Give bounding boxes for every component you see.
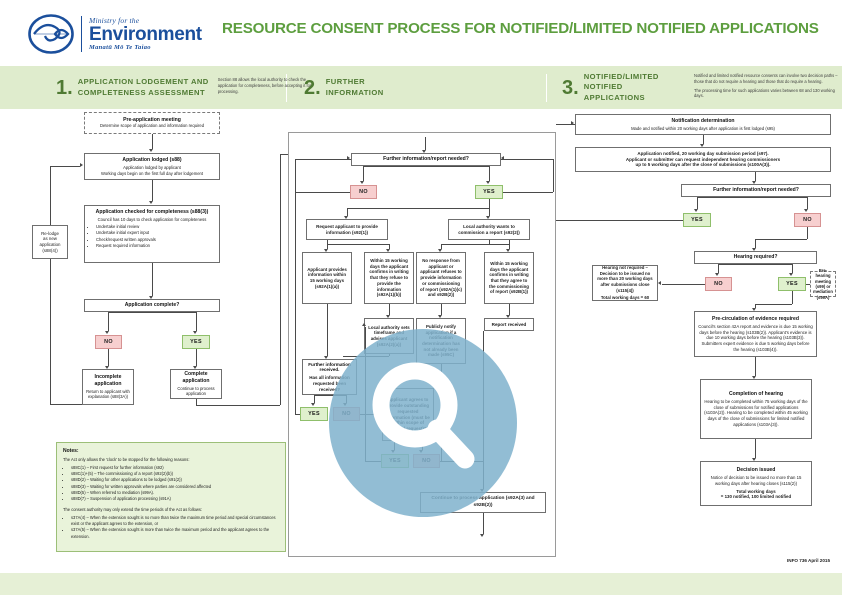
conn-hearing-no bbox=[718, 264, 719, 273]
decision-no-col1: NO bbox=[95, 335, 122, 349]
conn-d3-d4 bbox=[441, 244, 509, 245]
box-completion-of-hearing: Completion of hearing Hearing to be comp… bbox=[700, 379, 812, 439]
conn-d1-d2 bbox=[327, 244, 389, 245]
conn-d4 bbox=[509, 240, 510, 249]
logo-line-2: Environment bbox=[89, 25, 202, 44]
conn-relodge-up bbox=[50, 166, 51, 225]
notes-heading: Notes: bbox=[63, 448, 279, 454]
conn-fir-yes-left bbox=[295, 414, 300, 415]
box-relodge: Re-lodge as new application (s88(4)) bbox=[32, 225, 68, 259]
conn-fir-yes bbox=[314, 395, 315, 403]
arrow-left-fi bbox=[501, 156, 504, 160]
arrow-right-relodge bbox=[80, 163, 83, 167]
conn-q-no bbox=[108, 312, 109, 331]
box-precirculation-evidence: Pre-circulation of evidence required Cou… bbox=[694, 311, 817, 357]
conn-continue-out bbox=[483, 513, 484, 534]
conn-notif-notified bbox=[703, 135, 704, 144]
conn-into-sec2 bbox=[280, 154, 288, 155]
conn-yes-down-col2 bbox=[489, 199, 490, 208]
decision-no-agrees: NO bbox=[413, 454, 440, 468]
conn-fi-branch bbox=[363, 166, 489, 167]
box-application-notified: Application notified, 20 working day sub… bbox=[575, 147, 831, 172]
arrow-agrees-yes bbox=[391, 450, 395, 453]
box-fi-needed-col3: Further information/report needed? bbox=[681, 184, 831, 197]
decision-no-fir: NO bbox=[333, 407, 360, 421]
arrow-down-no bbox=[105, 331, 109, 334]
arrow-fi3-yes bbox=[694, 209, 698, 212]
arrow-hearing-no bbox=[715, 273, 719, 276]
flowchart-canvas: Pre-application meeting Determine scope … bbox=[0, 107, 842, 572]
box-completeness-check: Application checked for completeness (s8… bbox=[84, 205, 220, 263]
notes-intro: The Act only allows the 'clock' to be st… bbox=[63, 457, 279, 463]
conn-fi3-no bbox=[807, 197, 808, 209]
decision-yes-col2: YES bbox=[475, 185, 503, 199]
conn-lodged-complete bbox=[152, 180, 153, 201]
conn-precirc-completion bbox=[755, 357, 756, 376]
box-notification-determination: Notification determination Made and noti… bbox=[575, 114, 831, 135]
section-1-note: Section 88 allows the local authority to… bbox=[218, 77, 313, 98]
conn-notified-fi bbox=[755, 172, 756, 181]
box-commission-report: Local authority wants to commission a re… bbox=[448, 219, 530, 240]
conn-no3-down bbox=[807, 227, 808, 239]
box-la-sets-timeframe: Local authority sets timeframe and advis… bbox=[364, 318, 414, 354]
box-applicant-provides-info: Applicant provides information within 15… bbox=[302, 252, 352, 304]
arrow-right-notification bbox=[571, 121, 574, 125]
section-3-label: NOTIFIED/LIMITED NOTIFIED APPLICATIONS bbox=[584, 72, 685, 103]
conn-commission-down bbox=[489, 240, 490, 244]
conn-completion-decision bbox=[755, 439, 756, 458]
conn-complete-right bbox=[196, 405, 280, 406]
arrow-left-no-hearing bbox=[658, 281, 661, 285]
conn-continue-vert bbox=[483, 331, 484, 489]
conn-no-hearing-left bbox=[662, 284, 705, 285]
mfe-koru-logo-icon bbox=[28, 14, 74, 54]
box-fi-needed-col2: Further information/report needed? bbox=[351, 153, 501, 166]
decision-yes-fir: YES bbox=[300, 407, 328, 421]
section-1-number: 1. bbox=[56, 78, 73, 98]
decision-no-col2: NO bbox=[350, 185, 377, 199]
arrow-down-fi-no bbox=[360, 181, 364, 184]
section-2-header: 2. FURTHER INFORMATION bbox=[304, 66, 384, 109]
logo-line-1: Ministry for the bbox=[89, 17, 202, 25]
box-continue-to-process: Continue to process application (s92A(3)… bbox=[420, 492, 546, 513]
conn-no-left bbox=[295, 192, 350, 193]
conn-fi-no bbox=[363, 166, 364, 181]
conn-check-q bbox=[152, 263, 153, 296]
conn-fi-yes bbox=[489, 166, 490, 181]
notes-intro-2: The consent authority may only extend th… bbox=[63, 507, 279, 513]
decision-no-col3: NO bbox=[794, 213, 821, 227]
box-no-response: No response from applicant or applicant … bbox=[416, 252, 466, 304]
arrow-hearing-yes bbox=[789, 273, 793, 276]
arrow-fir-yes bbox=[311, 403, 315, 406]
conn-fi3-yes bbox=[697, 197, 698, 209]
box-within15-refuse: Within 15 working days the applicant con… bbox=[364, 252, 414, 304]
arrow-down-2 bbox=[149, 201, 153, 204]
section-3-header: 3. NOTIFIED/LIMITED NOTIFIED APPLICATION… bbox=[562, 66, 842, 109]
conn-sec2-no-out bbox=[503, 192, 553, 193]
section-1-label: APPLICATION LODGEMENT AND COMPLETENESS A… bbox=[78, 77, 209, 98]
conn-fir-branch bbox=[314, 395, 346, 396]
conn-yes-split bbox=[347, 208, 489, 209]
section-3-note: Notified and limited notified resource c… bbox=[694, 73, 842, 103]
decision-no-hearing: NO bbox=[705, 277, 732, 291]
box-application-lodged: Application lodged (s88) Application lod… bbox=[84, 153, 220, 180]
conn-d3-next bbox=[441, 304, 442, 315]
conn-col3-yes-left bbox=[556, 220, 683, 221]
band-divider-2 bbox=[546, 74, 547, 102]
box-hearing-required-q: Hearing required? bbox=[694, 251, 817, 264]
section-3-number: 3. bbox=[562, 78, 579, 98]
decision-yes-hearing: YES bbox=[778, 277, 806, 291]
box-applicant-agrees: Applicant agrees to provide outstanding … bbox=[382, 388, 434, 441]
box-prehearing-meeting: Pre-hearing meeting (s99) or mediation (… bbox=[810, 271, 836, 297]
notes-list-2: s37A(4) – When the extension sought is n… bbox=[63, 515, 279, 540]
decision-yes-col3: YES bbox=[683, 213, 711, 227]
conn-complete-up bbox=[280, 154, 281, 405]
conn-sec2-no-up bbox=[553, 159, 554, 192]
box-complete-application: Complete application Continue to process… bbox=[170, 369, 222, 399]
conn-fir-no bbox=[346, 395, 347, 403]
arrow-down-fi-yes bbox=[486, 181, 490, 184]
page-header: Ministry for the Environment Manatū Mō T… bbox=[0, 0, 842, 62]
arrow-fi3-no bbox=[804, 209, 808, 212]
conn-d2-next bbox=[389, 304, 390, 315]
page-title: RESOURCE CONSENT PROCESS FOR NOTIFIED/LI… bbox=[222, 21, 832, 38]
conn-yes-down bbox=[196, 349, 197, 366]
box-hearing-not-required: Hearing not required – Decision to be is… bbox=[592, 265, 658, 301]
ministry-logo: Ministry for the Environment Manatū Mō T… bbox=[28, 14, 202, 54]
conn-agrees-no-right bbox=[440, 461, 483, 462]
completeness-bullets: Undertake initial review Undertake initi… bbox=[89, 224, 215, 250]
arrow-right-fi bbox=[347, 156, 350, 160]
section-band: 1. APPLICATION LODGEMENT AND COMPLETENES… bbox=[0, 64, 842, 109]
conn-relodge-down bbox=[50, 259, 51, 404]
bottom-green-band bbox=[0, 573, 842, 595]
section-2-label: FURTHER INFORMATION bbox=[326, 77, 384, 98]
box-report-received: Report received bbox=[484, 318, 534, 331]
arrow-down-1 bbox=[149, 149, 153, 152]
section-2-number: 2. bbox=[304, 78, 321, 98]
conn-precirc-h bbox=[755, 304, 792, 305]
notes-list-1: s88C(1) – First request for further info… bbox=[63, 465, 279, 503]
conn-to-request bbox=[347, 208, 348, 216]
box-within15-agree: Within 15 working days the applicant con… bbox=[484, 252, 534, 304]
arrow-right-agrees bbox=[378, 411, 381, 415]
conn-no3-v bbox=[755, 239, 756, 248]
conn-q-branch bbox=[108, 312, 197, 313]
section-1-header: 1. APPLICATION LODGEMENT AND COMPLETENES… bbox=[56, 66, 313, 109]
conn-d1-fir bbox=[327, 304, 328, 356]
box-pre-application-meeting: Pre-application meeting Determine scope … bbox=[84, 112, 220, 134]
conn-right-into-fi bbox=[501, 159, 553, 160]
conn-lat-fir bbox=[389, 354, 390, 356]
conn-notify-down bbox=[441, 364, 442, 461]
conn-preapp-lodged bbox=[152, 134, 153, 149]
conn-fir-yes-up bbox=[295, 159, 296, 414]
conn-agrees-branch bbox=[394, 441, 422, 442]
conn-agrees-yes bbox=[394, 441, 395, 450]
conn-d4-next bbox=[509, 304, 510, 315]
arrow-agrees-no bbox=[419, 450, 423, 453]
box-request-applicant-info: Request applicant to provide information… bbox=[306, 219, 388, 240]
conn-no-down bbox=[108, 349, 109, 366]
logo-line-3: Manatū Mō Te Taiao bbox=[89, 45, 202, 52]
conn-lat-fir-h bbox=[343, 356, 389, 357]
box-application-complete-q: Application complete? bbox=[84, 299, 220, 312]
conn-hearing-yes bbox=[792, 264, 793, 273]
conn-agrees-yes-up bbox=[365, 327, 366, 461]
conn-no3-h bbox=[755, 239, 807, 240]
poster-page: Ministry for the Environment Manatū Mō T… bbox=[0, 0, 842, 595]
conn-relodge-to-incomplete bbox=[50, 404, 82, 405]
arrow-down-yes bbox=[193, 331, 197, 334]
conn-relodge-to-lodged bbox=[50, 166, 80, 167]
notes-box: Notes: The Act only allows the 'clock' t… bbox=[56, 442, 286, 552]
box-public-notify: Publicly notify application if a notific… bbox=[416, 318, 466, 364]
document-code: INFO 736 April 2015 bbox=[787, 558, 830, 563]
arrow-out-sec2 bbox=[480, 534, 484, 537]
conn-agrees-yes-left bbox=[365, 461, 381, 462]
decision-yes-col1: YES bbox=[182, 335, 210, 349]
conn-to-commission bbox=[489, 208, 490, 216]
box-further-info-received: Further information received. Has all in… bbox=[302, 359, 357, 395]
box-incomplete-application: Incomplete application Return to applica… bbox=[82, 369, 134, 405]
conn-agrees-no bbox=[422, 441, 423, 450]
arrow-fir-no bbox=[343, 403, 347, 406]
arrow-up-agrees-yes bbox=[362, 323, 366, 326]
conn-fi3-branch bbox=[697, 197, 807, 198]
conn-hearing-branch bbox=[718, 264, 792, 265]
conn-left-into-fi bbox=[295, 159, 351, 160]
decision-yes-agrees: YES bbox=[381, 454, 409, 468]
conn-q-yes bbox=[196, 312, 197, 331]
conn-yes-prehearing bbox=[806, 284, 810, 285]
conn-yes-precirc bbox=[792, 291, 793, 304]
box-decision-issued: Decision issued Notice of decision to be… bbox=[700, 461, 812, 506]
conn-sec2-top bbox=[425, 137, 426, 150]
